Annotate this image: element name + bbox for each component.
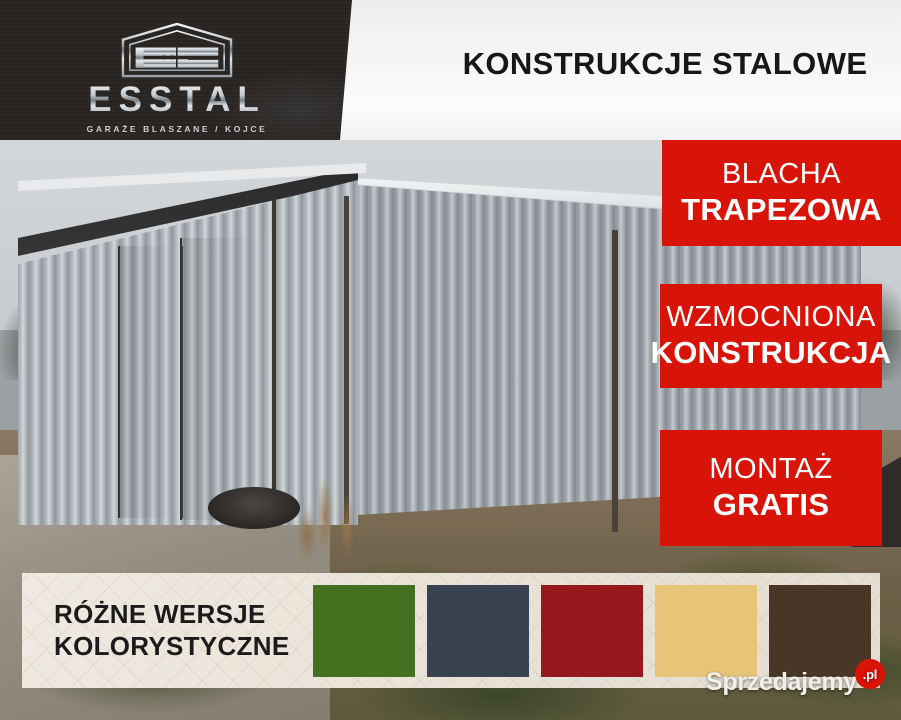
house-outline-es-monogram-icon xyxy=(118,22,236,79)
feature-badge-montaz-gratis: MONTAŻ GRATIS xyxy=(660,430,882,546)
badge-line-2: GRATIS xyxy=(713,488,830,523)
badge-line-1: MONTAŻ xyxy=(709,453,832,485)
color-swatch-navy xyxy=(427,585,529,677)
color-panel-heading: RÓŻNE WERSJE KOLORYSTYCZNE xyxy=(54,599,304,662)
watermark-pl-badge: .pl xyxy=(855,659,885,689)
garage-door-panel-left xyxy=(118,246,183,518)
color-swatch-dark-brown xyxy=(769,585,871,677)
color-panel-heading-line1: RÓŻNE WERSJE xyxy=(54,599,304,631)
feature-badge-blacha-trapezowa: BLACHA TRAPEZOWA xyxy=(662,140,901,246)
page-title: KONSTRUKCJE STALOWE xyxy=(450,46,880,82)
watermark-text: Sprzedajemy xyxy=(706,668,857,697)
garage-post-1 xyxy=(272,200,276,520)
garage-door-panel-right xyxy=(180,238,274,520)
badge-line-1: BLACHA xyxy=(722,158,841,190)
dry-bush xyxy=(285,455,395,575)
advertisement-banner: ESSTAL GARAŻE BLASZANE / KOJCE KONSTRUKC… xyxy=(0,0,901,720)
color-swatch-sand-yellow xyxy=(655,585,757,677)
brand-tagline: GARAŻE BLASZANE / KOJCE xyxy=(87,124,268,134)
garage-post-3 xyxy=(612,230,618,532)
feature-badge-wzmocniona-konstrukcja: WZMOCNIONA KONSTRUKCJA xyxy=(660,284,882,388)
color-swatch-green xyxy=(313,585,415,677)
color-swatch-dark-red xyxy=(541,585,643,677)
sprzedajemy-watermark: Sprzedajemy .pl xyxy=(706,668,885,697)
badge-line-1: WZMOCNIONA xyxy=(666,301,876,333)
brand-wordmark: ESSTAL xyxy=(88,82,265,117)
badge-line-2: KONSTRUKCJA xyxy=(651,336,892,371)
color-panel-heading-line2: KOLORYSTYCZNE xyxy=(54,631,304,663)
badge-line-2: TRAPEZOWA xyxy=(681,193,882,228)
brand-logo: ESSTAL GARAŻE BLASZANE / KOJCE xyxy=(62,22,292,134)
